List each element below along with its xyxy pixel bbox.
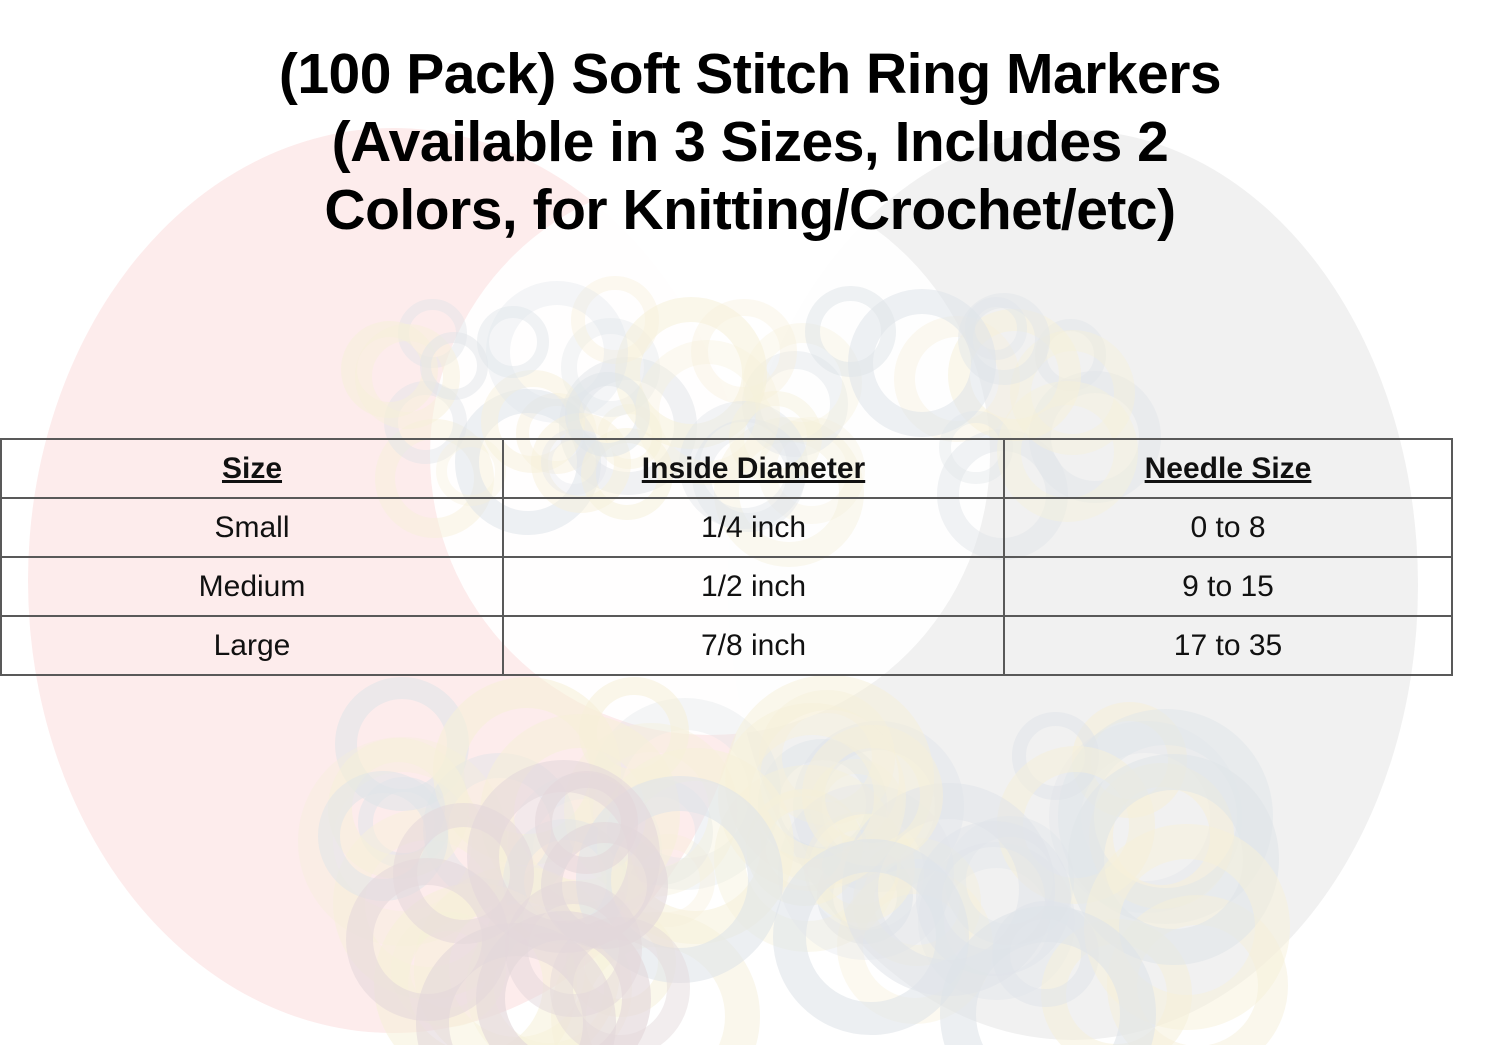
ring-marker — [420, 332, 488, 400]
table-header: Size Inside Diameter Needle Size — [1, 439, 1452, 498]
column-header-diameter: Inside Diameter — [503, 439, 1004, 498]
cell-size: Small — [1, 498, 503, 557]
page-title: (100 Pack) Soft Stitch Ring Markers (Ava… — [0, 40, 1500, 244]
cell-needle: 9 to 15 — [1004, 557, 1452, 616]
title-line-2: (Available in 3 Sizes, Includes 2 — [0, 108, 1500, 176]
cell-diameter: 1/2 inch — [503, 557, 1004, 616]
cell-diameter: 7/8 inch — [503, 616, 1004, 675]
table-row: Medium 1/2 inch 9 to 15 — [1, 557, 1452, 616]
cell-size: Large — [1, 616, 503, 675]
table-body: Small 1/4 inch 0 to 8 Medium 1/2 inch 9 … — [1, 498, 1452, 675]
ring-marker — [393, 803, 534, 944]
ring-marker — [805, 286, 896, 377]
column-header-needle: Needle Size — [1004, 439, 1452, 498]
table-header-row: Size Inside Diameter Needle Size — [1, 439, 1452, 498]
table-row: Small 1/4 inch 0 to 8 — [1, 498, 1452, 557]
cell-diameter: 1/4 inch — [503, 498, 1004, 557]
cell-size: Medium — [1, 557, 503, 616]
column-header-size: Size — [1, 439, 503, 498]
cell-needle: 0 to 8 — [1004, 498, 1452, 557]
title-line-1: (100 Pack) Soft Stitch Ring Markers — [0, 40, 1500, 108]
title-line-3: Colors, for Knitting/Crochet/etc) — [0, 176, 1500, 244]
size-chart-table: Size Inside Diameter Needle Size Small 1… — [0, 438, 1453, 676]
ring-marker — [541, 822, 668, 949]
cell-needle: 17 to 35 — [1004, 616, 1452, 675]
table-row: Large 7/8 inch 17 to 35 — [1, 616, 1452, 675]
